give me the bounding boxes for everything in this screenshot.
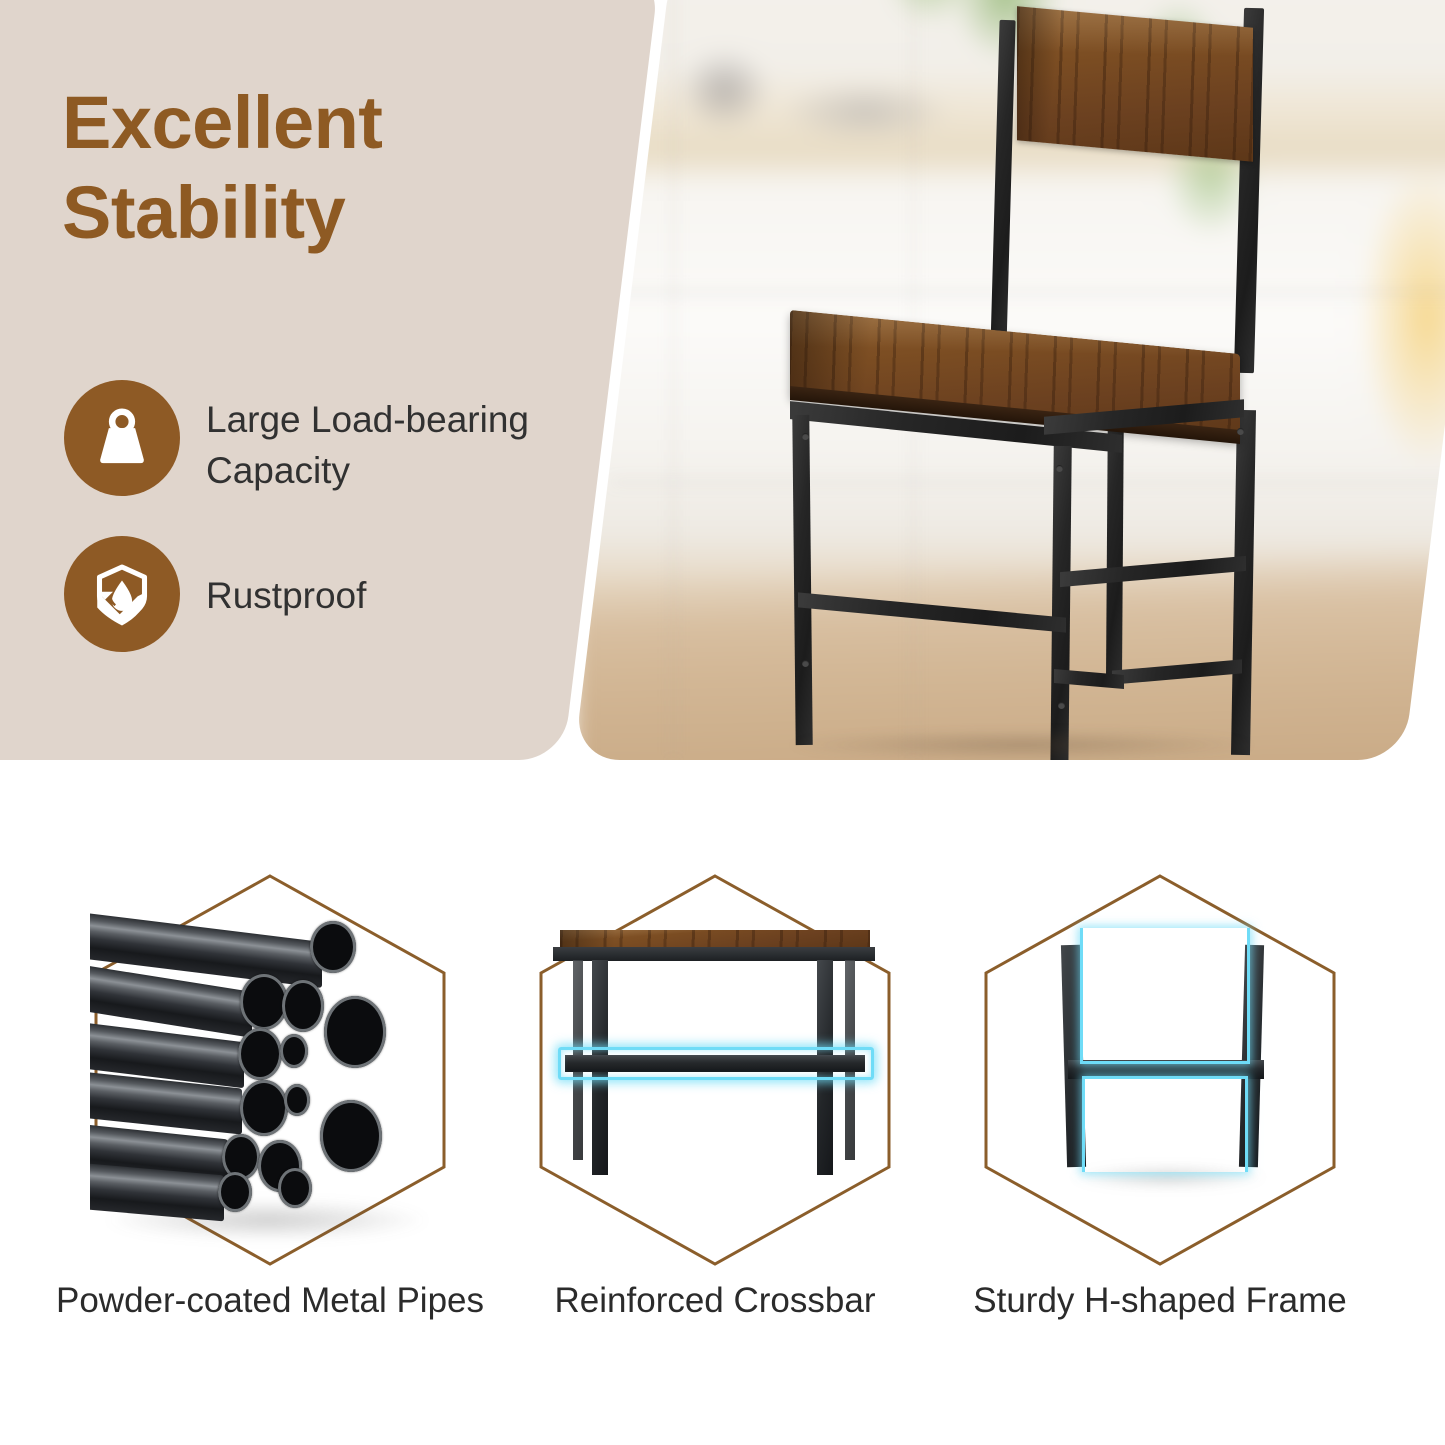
shield-droplet-icon bbox=[64, 536, 180, 652]
feature-item-rustproof: Rustproof bbox=[64, 536, 606, 652]
detail-card-powder-coated-pipes: Powder-coated Metal Pipes bbox=[55, 860, 485, 1330]
h-frame-image bbox=[980, 870, 1340, 1270]
hero-product-photo bbox=[574, 0, 1445, 760]
page-title: Excellent Stability bbox=[62, 78, 582, 259]
feature-label: Large Load-bearing Capacity bbox=[206, 380, 606, 496]
h-frame-highlight-upper bbox=[1080, 928, 1250, 1064]
crossbar-image bbox=[535, 870, 895, 1270]
detail-card-reinforced-crossbar: Reinforced Crossbar bbox=[500, 860, 930, 1330]
card-caption: Reinforced Crossbar bbox=[500, 1278, 930, 1324]
card-caption: Powder-coated Metal Pipes bbox=[55, 1278, 485, 1324]
headline-line-1: Excellent bbox=[62, 78, 582, 168]
card-caption: Sturdy H-shaped Frame bbox=[945, 1278, 1375, 1324]
hero-section: Excellent Stability Large Load-bearing C… bbox=[0, 0, 1445, 800]
h-frame-highlight-lower bbox=[1082, 1076, 1248, 1172]
feature-label: Rustproof bbox=[206, 536, 606, 621]
detail-card-h-shaped-frame: Sturdy H-shaped Frame bbox=[945, 860, 1375, 1330]
hero-text-content: Excellent Stability Large Load-bearing C… bbox=[0, 0, 660, 760]
detail-cards-section: Powder-coated Metal Pipes Reinforced Cro… bbox=[0, 830, 1445, 1445]
pipes-image bbox=[90, 870, 450, 1270]
crossbar-highlight bbox=[558, 1047, 874, 1080]
headline-line-2: Stability bbox=[62, 168, 582, 258]
weight-icon bbox=[64, 380, 180, 496]
dining-chair-illustration bbox=[612, 0, 1445, 760]
feature-item-load-bearing: Large Load-bearing Capacity bbox=[64, 380, 606, 496]
